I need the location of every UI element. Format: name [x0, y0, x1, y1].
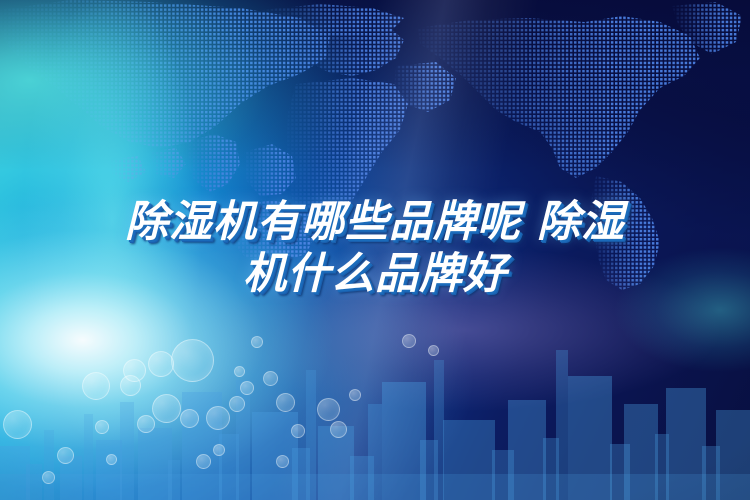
banner-image: 除湿机有哪些品牌呢 除湿 机什么品牌好	[0, 0, 750, 500]
vignette-overlay	[0, 0, 750, 500]
